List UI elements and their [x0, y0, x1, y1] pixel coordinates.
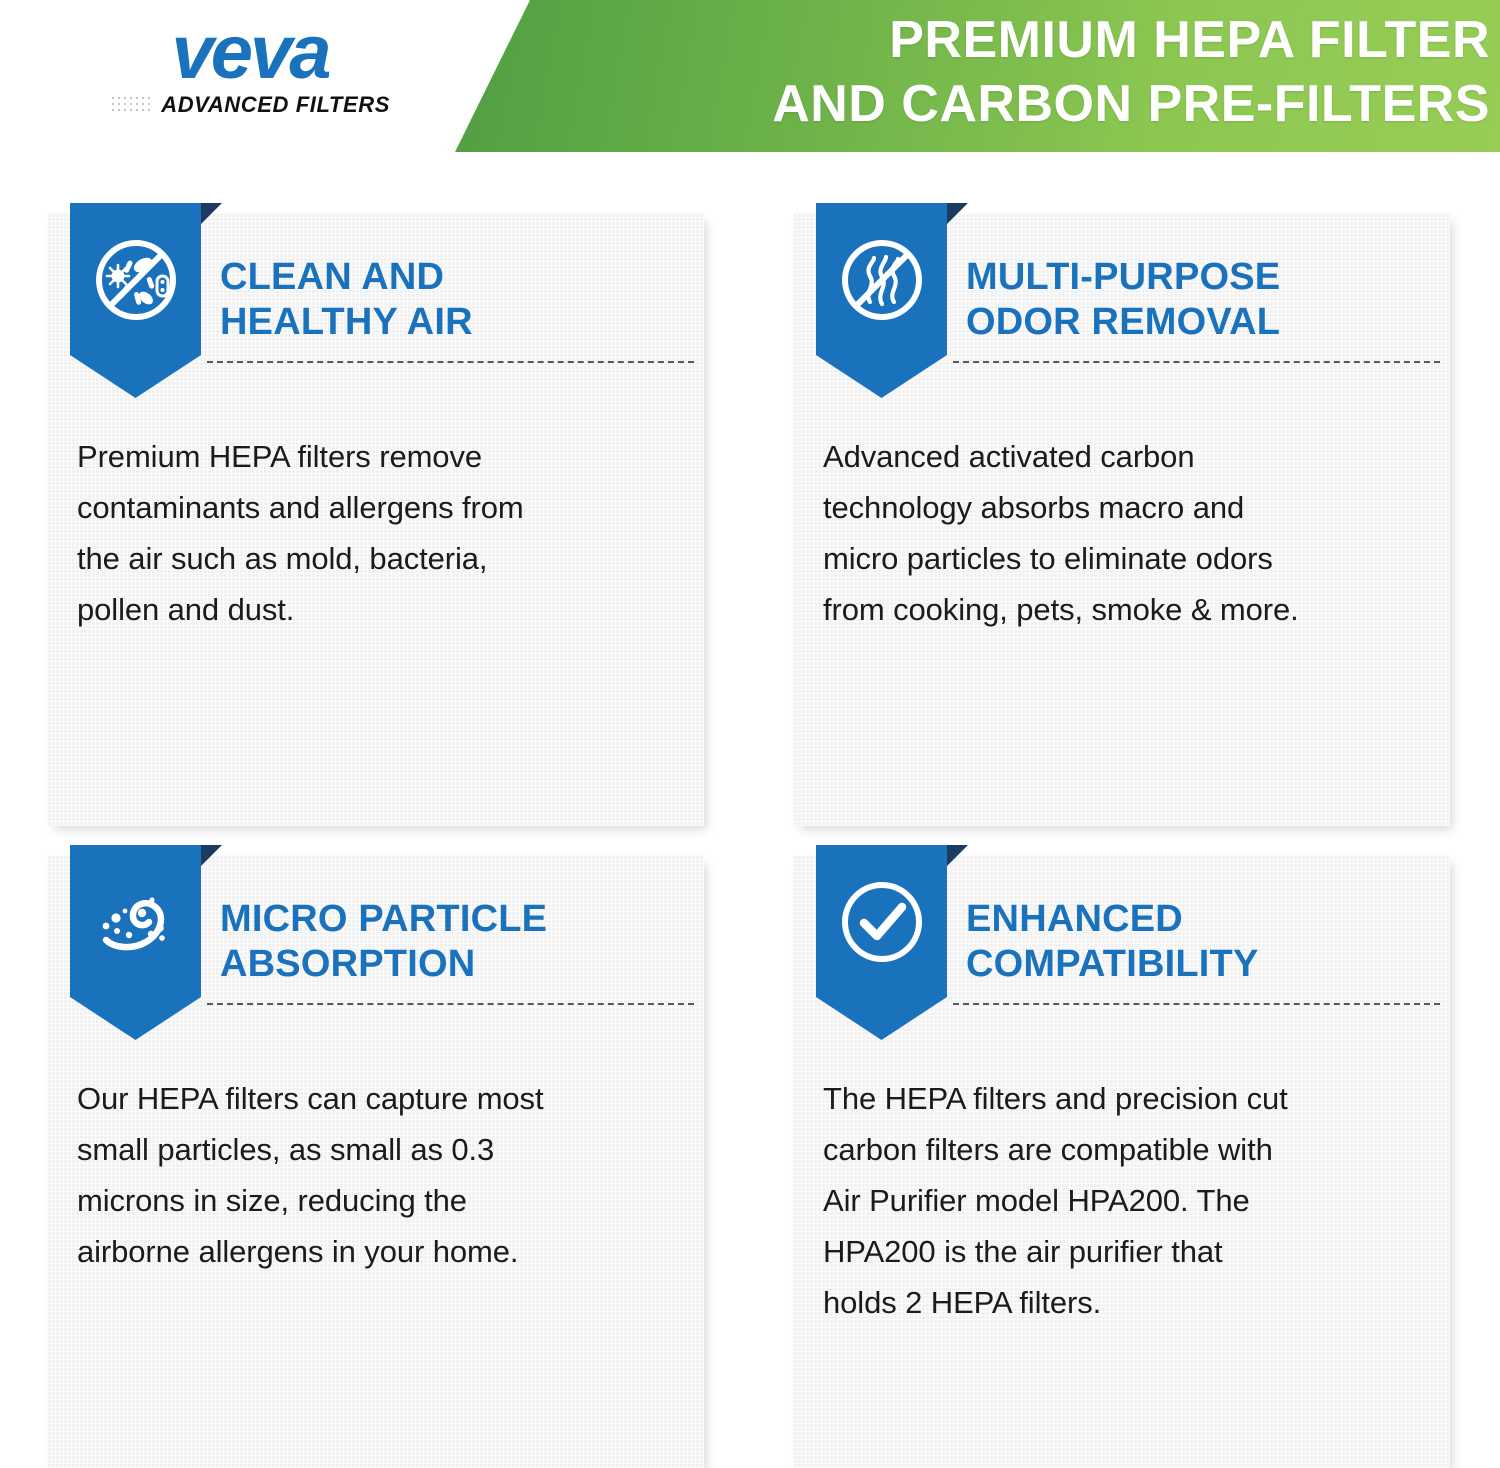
ribbon-fold-corner: [201, 203, 222, 224]
halftone-dots-icon: [110, 95, 154, 115]
card-body-text: Our HEPA filters can capture most small …: [77, 1073, 687, 1277]
ribbon-fold-corner: [947, 203, 968, 224]
card-heading: MICRO PARTICLE ABSORPTION: [220, 897, 685, 987]
card-body-line: Our HEPA filters can capture most: [77, 1073, 687, 1124]
feature-card-micro-particle-absorption: MICRO PARTICLE ABSORPTION Our HEPA filte…: [47, 855, 704, 1468]
card-body-line: technology absorbs macro and: [823, 482, 1433, 533]
feature-card-clean-and-healthy-air: CLEAN AND HEALTHY AIR Premium HEPA filte…: [47, 213, 704, 826]
logo-wordmark: veva: [110, 16, 390, 90]
card-body-line: Premium HEPA filters remove: [77, 431, 687, 482]
card-heading-line2: HEALTHY AIR: [220, 300, 685, 345]
card-body-line: The HEPA filters and precision cut: [823, 1073, 1433, 1124]
feature-card-multi-purpose-odor-removal: MULTI-PURPOSE ODOR REMOVAL Advanced acti…: [793, 213, 1450, 826]
heading-divider: [207, 1003, 694, 1005]
card-body-line: carbon filters are compatible with: [823, 1124, 1433, 1175]
card-body-line: small particles, as small as 0.3: [77, 1124, 687, 1175]
header-title-line2: AND CARBON PRE-FILTERS: [560, 72, 1490, 136]
ribbon-fold-corner: [947, 845, 968, 866]
logo-tagline-row: ADVANCED FILTERS: [110, 92, 390, 118]
logo-tagline: ADVANCED FILTERS: [161, 92, 390, 118]
ribbon-banner: [70, 203, 201, 398]
card-heading-line1: CLEAN AND: [220, 255, 685, 300]
card-body-line: the air such as mold, bacteria,: [77, 533, 687, 584]
card-heading-line2: COMPATIBILITY: [966, 942, 1431, 987]
card-body-line: from cooking, pets, smoke & more.: [823, 584, 1433, 635]
ribbon-fold-corner: [201, 845, 222, 866]
heading-divider: [207, 361, 694, 363]
card-body-text: Premium HEPA filters remove contaminants…: [77, 431, 687, 635]
card-body-line: HPA200 is the air purifier that: [823, 1226, 1433, 1277]
card-body-line: micro particles to eliminate odors: [823, 533, 1433, 584]
ribbon-banner: [70, 845, 201, 1040]
page-header: PREMIUM HEPA FILTER AND CARBON PRE-FILTE…: [0, 0, 1500, 152]
particle-swirl-icon: [70, 867, 201, 977]
card-body-text: Advanced activated carbon technology abs…: [823, 431, 1433, 635]
no-bacteria-icon: [70, 225, 201, 335]
card-body-line: pollen and dust.: [77, 584, 687, 635]
card-body-text: The HEPA filters and precision cut carbo…: [823, 1073, 1433, 1328]
card-body-line: airborne allergens in your home.: [77, 1226, 687, 1277]
ribbon-banner: [816, 203, 947, 398]
card-heading-line1: ENHANCED: [966, 897, 1431, 942]
no-odor-icon: [816, 225, 947, 335]
veva-logo: veva ADVANCED FILTERS: [110, 16, 390, 128]
ribbon-banner: [816, 845, 947, 1040]
card-heading-line2: ODOR REMOVAL: [966, 300, 1431, 345]
heading-divider: [953, 361, 1440, 363]
card-heading: MULTI-PURPOSE ODOR REMOVAL: [966, 255, 1431, 345]
card-heading: CLEAN AND HEALTHY AIR: [220, 255, 685, 345]
check-circle-icon: [816, 867, 947, 977]
feature-card-grid: CLEAN AND HEALTHY AIR Premium HEPA filte…: [0, 152, 1500, 1413]
card-body-line: holds 2 HEPA filters.: [823, 1277, 1433, 1328]
card-body-line: contaminants and allergens from: [77, 482, 687, 533]
feature-card-enhanced-compatibility: ENHANCED COMPATIBILITY The HEPA filters …: [793, 855, 1450, 1468]
heading-divider: [953, 1003, 1440, 1005]
card-heading: ENHANCED COMPATIBILITY: [966, 897, 1431, 987]
card-heading-line1: MULTI-PURPOSE: [966, 255, 1431, 300]
card-heading-line2: ABSORPTION: [220, 942, 685, 987]
card-body-line: microns in size, reducing the: [77, 1175, 687, 1226]
card-body-line: Advanced activated carbon: [823, 431, 1433, 482]
card-heading-line1: MICRO PARTICLE: [220, 897, 685, 942]
card-body-line: Air Purifier model HPA200. The: [823, 1175, 1433, 1226]
header-title-line1: PREMIUM HEPA FILTER: [560, 8, 1490, 72]
header-title: PREMIUM HEPA FILTER AND CARBON PRE-FILTE…: [560, 8, 1490, 136]
